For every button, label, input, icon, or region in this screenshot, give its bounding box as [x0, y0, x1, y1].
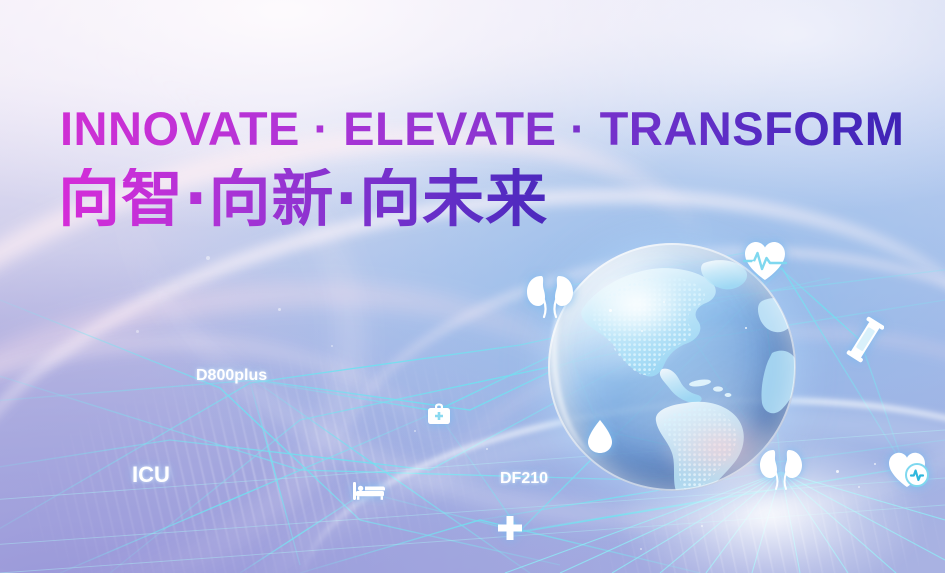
kidneys-icon — [524, 272, 576, 320]
medical-bag-icon — [427, 403, 451, 425]
heart-monitor-icon — [886, 450, 930, 490]
kidneys-icon — [757, 447, 805, 491]
medical-cross-icon — [497, 515, 523, 541]
page-title: INNOVATE · ELEVATE · TRANSFORM — [60, 105, 904, 152]
product-label-d800plus: D800plus — [196, 367, 267, 385]
promotional-banner: INNOVATE · ELEVATE · TRANSFORM 向智·向新·向未来… — [0, 0, 945, 573]
page-subtitle: 向智·向新·向未来 — [58, 168, 548, 230]
water-drop-icon — [585, 418, 615, 454]
hospital-bed-icon — [353, 481, 385, 501]
product-label-icu: ICU — [132, 462, 170, 488]
product-label-df210: DF210 — [500, 470, 548, 488]
syringe-icon — [846, 315, 884, 365]
heart-pulse-icon — [742, 240, 788, 282]
